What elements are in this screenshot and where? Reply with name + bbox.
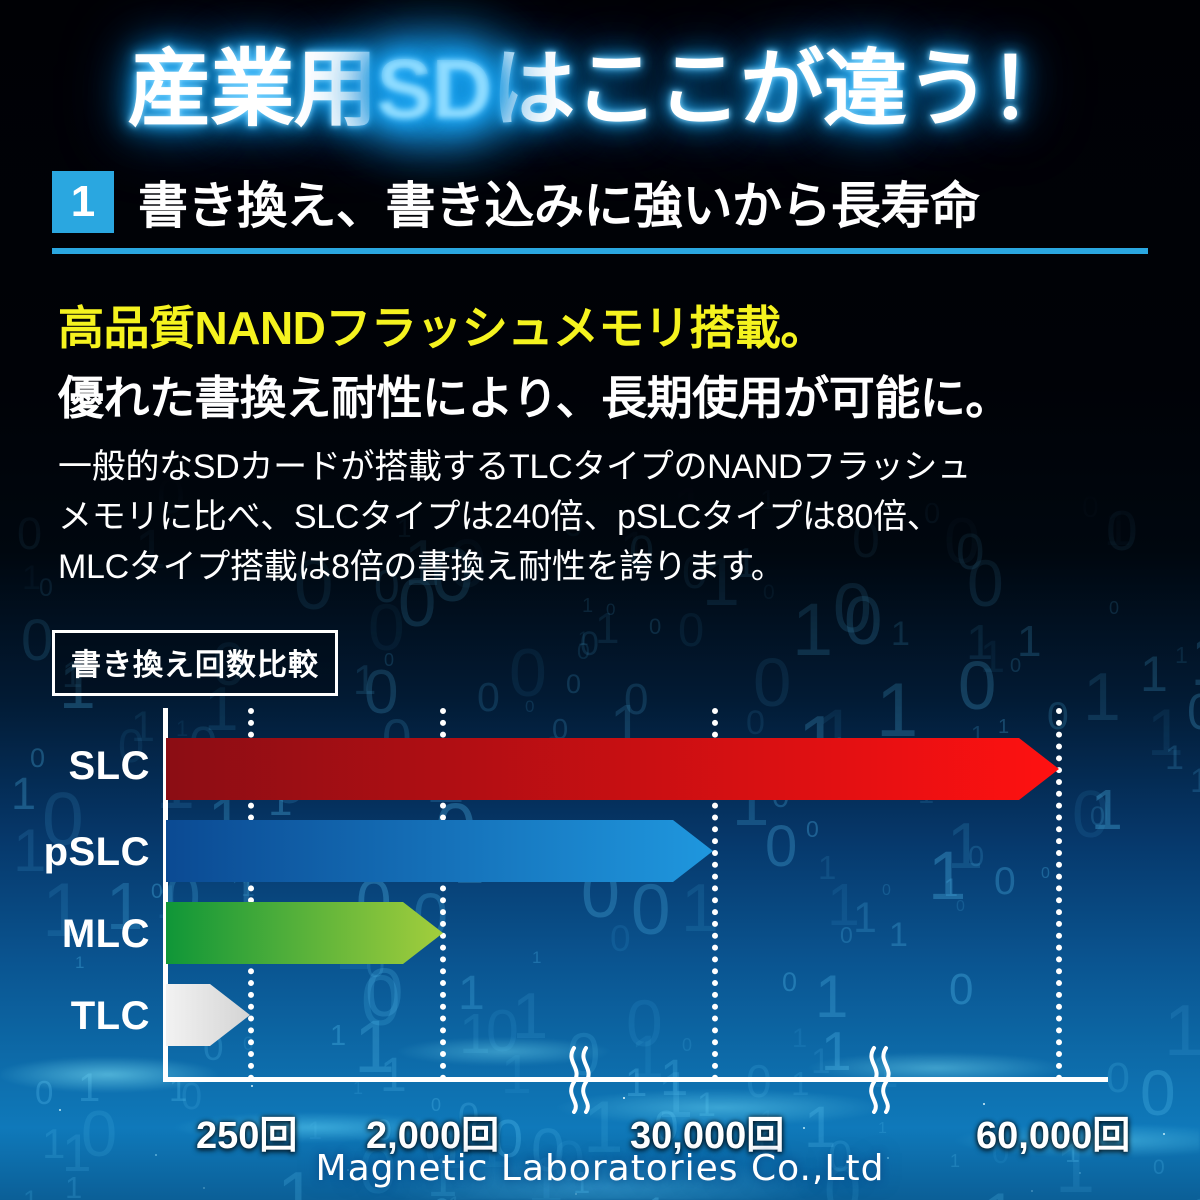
axis-break-mark-2 [862,1044,896,1114]
category-label-mlc: MLC [0,912,150,957]
section-heading-text: 書き換え、書き込みに強いから長寿命 [138,166,980,238]
section-number-badge: 1 [52,171,114,233]
title-suffix: はここが違う！ [491,42,1072,136]
body-paragraph: 一般的なSDカードが搭載するTLCタイプのNANDフラッシュ メモリに比べ、SL… [58,442,1148,592]
heading-divider [52,248,1148,254]
bar-mlc [166,902,443,964]
bar-tlc [166,984,250,1046]
company-footer: Magnetic Laboratories Co.,Ltd [0,1148,1200,1189]
section-heading: 1 書き換え、書き込みに強いから長寿命 [52,166,1148,238]
poster-canvas: 1001010101010111011001100100110001011011… [0,0,1200,1200]
bar-pslc [166,820,713,882]
title-prefix: 産業用 [128,42,377,136]
axis-break-mark-1 [562,1044,596,1114]
category-label-pslc: pSLC [0,830,150,875]
category-label-tlc: TLC [0,994,150,1039]
rewrite-count-chart: 書き換え回数比較 SLC pSLC MLC TLC [0,620,1200,1200]
bar-slc [166,738,1059,800]
paragraph-line: MLCタイプ搭載は8倍の書換え耐性を誇ります。 [58,542,1148,592]
lead-secondary-text: 優れた書換え耐性により、長期使用が可能に。 [58,362,1011,428]
chart-title-box: 書き換え回数比較 [52,630,338,696]
title-accent-sd: SD [377,42,492,136]
category-label-slc: SLC [0,744,150,789]
paragraph-line: 一般的なSDカードが搭載するTLCタイプのNANDフラッシュ [58,442,1148,492]
lead-highlight-text: 高品質NANDフラッシュメモリ搭載。 [58,292,826,358]
page-title: 産業用SDはここが違う！ [0,22,1200,143]
x-axis-line [163,1077,1108,1082]
paragraph-line: メモリに比べ、SLCタイプは240倍、pSLCタイプは80倍、 [58,492,1148,542]
